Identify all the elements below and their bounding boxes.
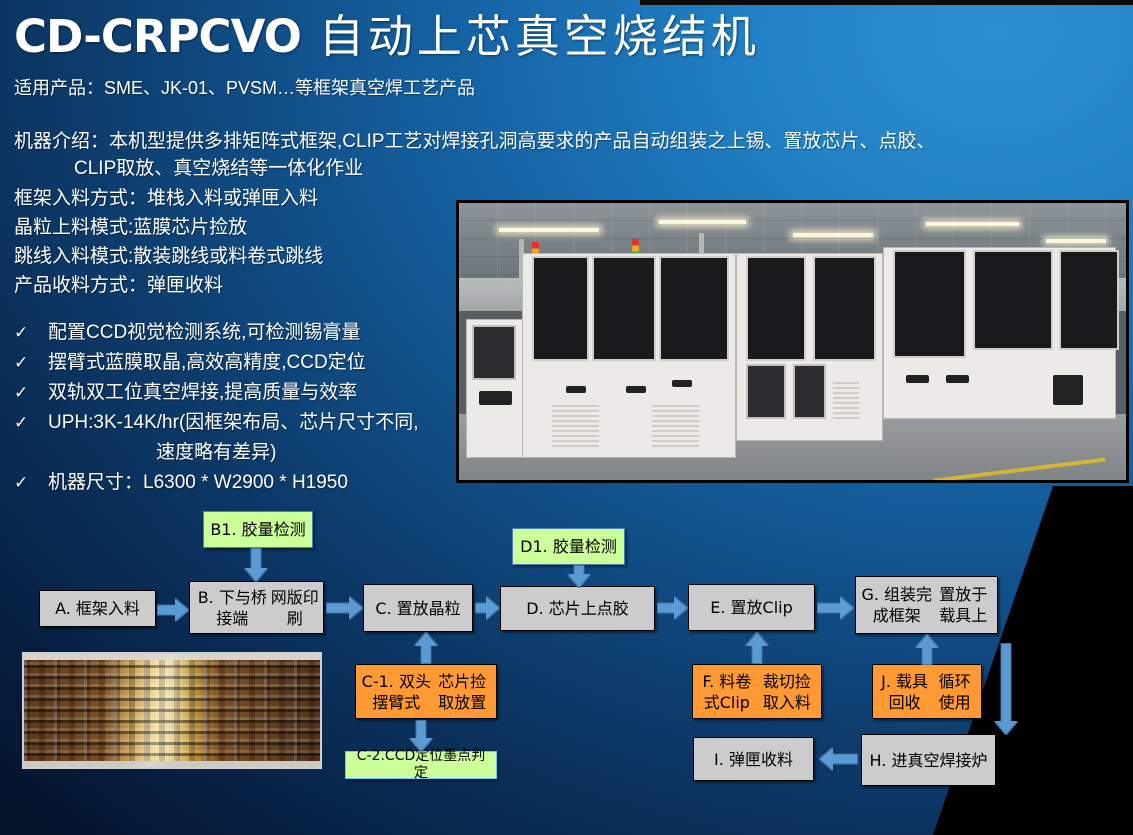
photo-handle bbox=[946, 375, 969, 383]
photo-window bbox=[592, 256, 655, 361]
process-flow-diagram: B1. 胶量检测 D1. 胶量检测 A. 框架入料 B. 下与桥接端 网版印刷 … bbox=[0, 486, 1133, 835]
intro-line-1: 机器介绍：本机型提供多排矩阵式框架,CLIP工艺对焊接孔洞高要求的产品自动组装之… bbox=[14, 131, 936, 152]
ceiling-lamp-icon bbox=[659, 220, 746, 224]
photo-handle bbox=[566, 386, 586, 393]
spec-item-unloading: 产品收料方式：弹匣收料 bbox=[14, 271, 323, 300]
flow-node-H-line2: 炉 bbox=[971, 750, 987, 771]
photo-vent bbox=[552, 402, 599, 446]
slide-root: CD-CRPCVO自动上芯真空烧结机 适用产品：SME、JK-01、PVSM…等… bbox=[0, 0, 1133, 835]
flow-node-C2[interactable]: C-2.CCD定位墨点判定 bbox=[345, 751, 497, 779]
flow-arrow-G-to-H bbox=[995, 643, 1017, 734]
flow-node-E[interactable]: E. 置放Clip bbox=[688, 584, 815, 631]
flow-arrow-B1-to-B bbox=[245, 548, 267, 581]
ceiling-lamp-icon bbox=[499, 228, 599, 232]
feature-item-dual-track: ✓ 双轨双工位真空焊接,提高质量与效率 bbox=[14, 378, 419, 408]
ceiling-lamp-icon bbox=[793, 233, 873, 237]
flow-node-H[interactable]: H. 进真空焊接 炉 bbox=[861, 734, 996, 786]
feature-text-main: UPH:3K-14K/hr(因框架布局、芯片尺寸不同, bbox=[48, 412, 419, 433]
flow-node-J[interactable]: J. 载具回收 循环使用 bbox=[872, 664, 982, 719]
flow-node-F-line2: 裁切捡取入料 bbox=[757, 671, 817, 713]
photo-vent bbox=[833, 380, 860, 419]
flow-node-F-line1: F. 料卷式Clip bbox=[697, 671, 757, 713]
flow-node-C[interactable]: C. 置放晶粒 bbox=[363, 584, 473, 632]
page-title: CD-CRPCVO自动上芯真空烧结机 bbox=[14, 8, 760, 66]
flow-arrow-J-to-G bbox=[916, 635, 938, 665]
photo-window bbox=[813, 256, 876, 361]
flow-arrow-D1-to-D bbox=[568, 565, 590, 587]
flow-node-F[interactable]: F. 料卷式Clip 裁切捡取入料 bbox=[692, 664, 822, 719]
feature-text-continued: 速度略有差异) bbox=[48, 438, 419, 468]
flow-node-B[interactable]: B. 下与桥接端 网版印刷 bbox=[189, 581, 324, 634]
title-chinese: 自动上芯真空烧结机 bbox=[319, 10, 760, 63]
flow-arrow-F-to-E bbox=[746, 633, 768, 664]
spec-item-die-feeding: 晶粒上料模式:蓝膜芯片捡放 bbox=[14, 213, 323, 242]
feature-text: 配置CCD视觉检测系统,可检测锡膏量 bbox=[48, 318, 360, 348]
spec-list: 框架入料方式：堆栈入料或弹匣入料 晶粒上料模式:蓝膜芯片捡放 跳线入料模式:散装… bbox=[14, 184, 323, 300]
flow-arrow-C1-to-C bbox=[415, 633, 437, 664]
flow-node-C1[interactable]: C-1. 双头摆臂式 芯片捡取放置 bbox=[355, 664, 497, 719]
intro-line-2: CLIP取放、真空烧结等一体化作业 bbox=[14, 155, 1124, 182]
flow-node-I[interactable]: I. 弹匣收料 bbox=[693, 737, 814, 781]
feature-check-list: ✓ 配置CCD视觉检测系统,可检测锡膏量 ✓ 摆臂式蓝膜取晶,高效高精度,CCD… bbox=[14, 318, 419, 498]
flow-arrow-H-to-I bbox=[820, 748, 858, 770]
flow-arrow-A-to-B bbox=[157, 599, 188, 621]
spec-item-wire-feeding: 跳线入料模式:散装跳线或料卷式跳线 bbox=[14, 242, 323, 271]
photo-window bbox=[746, 256, 806, 361]
flow-arrow-D-to-E bbox=[657, 597, 687, 619]
check-icon: ✓ bbox=[14, 348, 48, 378]
photo-window bbox=[1059, 250, 1119, 350]
subtitle: 适用产品：SME、JK-01、PVSM…等框架真空焊工艺产品 bbox=[14, 74, 475, 100]
photo-handle bbox=[626, 386, 646, 393]
photo-window bbox=[659, 256, 729, 361]
flow-node-B-line1: B. 下与桥接端 bbox=[194, 587, 271, 629]
photo-handle bbox=[906, 375, 929, 383]
feature-item-swing-arm: ✓ 摆臂式蓝膜取晶,高效高精度,CCD定位 bbox=[14, 348, 419, 378]
flow-node-G-line1: G. 组装完成框架 bbox=[860, 584, 933, 626]
flow-node-G-line2: 置放于载具上 bbox=[933, 584, 993, 626]
photo-window bbox=[893, 250, 966, 358]
feature-text: 双轨双工位真空焊接,提高质量与效率 bbox=[48, 378, 357, 408]
flow-node-G[interactable]: G. 组装完成框架 置放于载具上 bbox=[855, 576, 998, 634]
feature-item-uph: ✓ UPH:3K-14K/hr(因框架布局、芯片尺寸不同, 速度略有差异) bbox=[14, 408, 419, 468]
ceiling-lamp-icon bbox=[926, 222, 1019, 226]
photo-window bbox=[973, 250, 1053, 350]
flow-node-D1[interactable]: D1. 胶量检测 bbox=[512, 528, 625, 565]
photo-window bbox=[532, 256, 589, 361]
flow-node-H-line1: H. 进真空焊接 bbox=[870, 750, 972, 771]
feature-text: 摆臂式蓝膜取晶,高效高精度,CCD定位 bbox=[48, 348, 366, 378]
photo-slot bbox=[479, 391, 512, 405]
photo-panel bbox=[1053, 375, 1083, 405]
spec-item-frame-feeding: 框架入料方式：堆栈入料或弹匣入料 bbox=[14, 184, 323, 213]
photo-window bbox=[793, 364, 826, 419]
model-code: CD-CRPCVO bbox=[14, 10, 301, 63]
flow-arrow-C-to-D bbox=[475, 597, 499, 619]
flow-node-J-line1: J. 载具回收 bbox=[877, 671, 932, 713]
flow-arrow-C1-to-C2 bbox=[410, 720, 432, 751]
check-icon: ✓ bbox=[14, 378, 48, 408]
feature-text: UPH:3K-14K/hr(因框架布局、芯片尺寸不同, 速度略有差异) bbox=[48, 408, 419, 468]
photo-window bbox=[746, 364, 786, 419]
flow-node-C1-line2: 芯片捡取放置 bbox=[433, 671, 492, 713]
photo-handle bbox=[672, 380, 692, 387]
check-icon: ✓ bbox=[14, 318, 48, 348]
machine-intro: 机器介绍：本机型提供多排矩阵式框架,CLIP工艺对焊接孔洞高要求的产品自动组装之… bbox=[14, 128, 1124, 182]
flow-node-A[interactable]: A. 框架入料 bbox=[39, 590, 156, 627]
check-icon: ✓ bbox=[14, 408, 48, 438]
flow-node-B-line2: 网版印刷 bbox=[271, 587, 319, 629]
photo-vent bbox=[652, 402, 699, 446]
machine-photo bbox=[456, 200, 1129, 483]
photo-window bbox=[472, 325, 515, 380]
flow-node-C1-line1: C-1. 双头摆臂式 bbox=[360, 671, 433, 713]
top-dark-strip bbox=[640, 0, 1133, 5]
feature-item-ccd-inspection: ✓ 配置CCD视觉检测系统,可检测锡膏量 bbox=[14, 318, 419, 348]
flow-node-B1[interactable]: B1. 胶量检测 bbox=[203, 511, 313, 548]
flow-arrow-E-to-G bbox=[817, 597, 853, 619]
flow-node-D[interactable]: D. 芯片上点胶 bbox=[500, 586, 655, 631]
flow-node-J-line2: 循环使用 bbox=[932, 671, 977, 713]
flow-arrow-B-to-C bbox=[326, 597, 362, 619]
ceiling-lamp-icon bbox=[1046, 239, 1106, 243]
